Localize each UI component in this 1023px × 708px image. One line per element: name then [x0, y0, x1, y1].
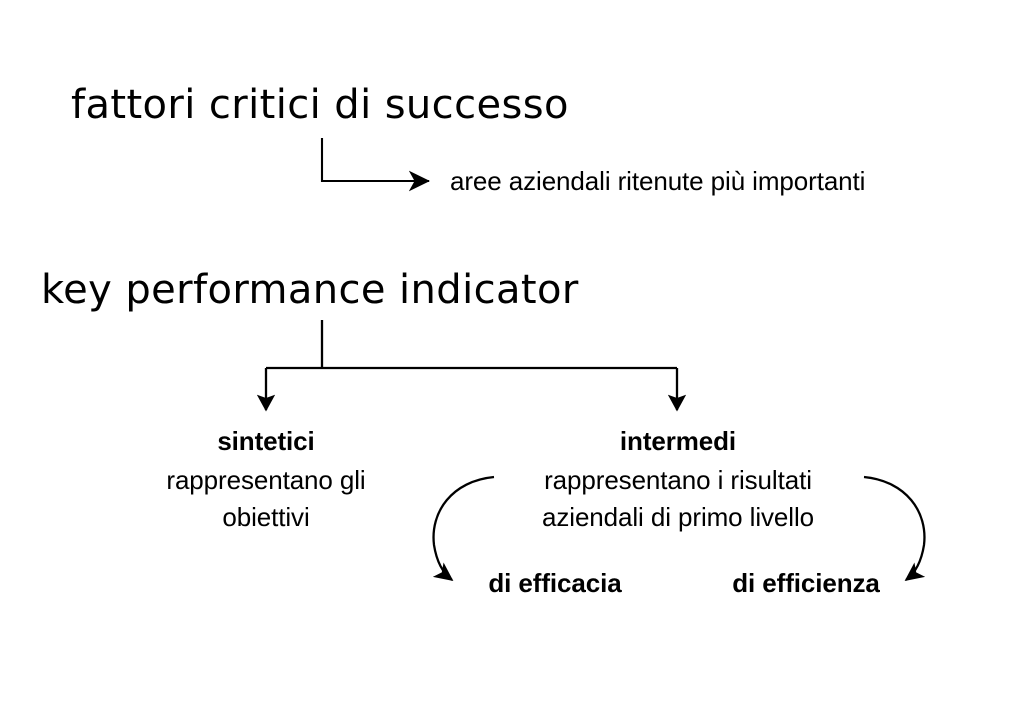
- branch-description-intermedi-line-2: aziendali di primo livello: [542, 504, 814, 530]
- branch-description-intermedi-line-1: rappresentano i risultati: [544, 467, 812, 493]
- elbow-arrow-to-business-areas: [322, 138, 429, 181]
- branch-title-sintetici: sintetici: [217, 428, 314, 454]
- branch-description-sintetici-line-2: obiettivi: [222, 504, 309, 530]
- sub-branch-di-efficacia: di efficacia: [488, 570, 621, 596]
- heading-fattori-critici-di-successo: fattori critici di successo: [71, 85, 569, 125]
- slide-canvas: fattori critici di successo key performa…: [0, 0, 1023, 708]
- tree-split-kpi: [266, 320, 677, 410]
- branch-title-intermedi: intermedi: [620, 428, 736, 454]
- curved-arrow-to-efficacia: [434, 477, 494, 580]
- label-aree-aziendali: aree aziendali ritenute più importanti: [450, 168, 865, 194]
- branch-description-sintetici-line-1: rappresentano gli: [166, 467, 365, 493]
- curved-arrow-to-efficienza: [864, 477, 924, 580]
- sub-branch-di-efficienza: di efficienza: [732, 570, 880, 596]
- heading-key-performance-indicator: key performance indicator: [41, 270, 579, 310]
